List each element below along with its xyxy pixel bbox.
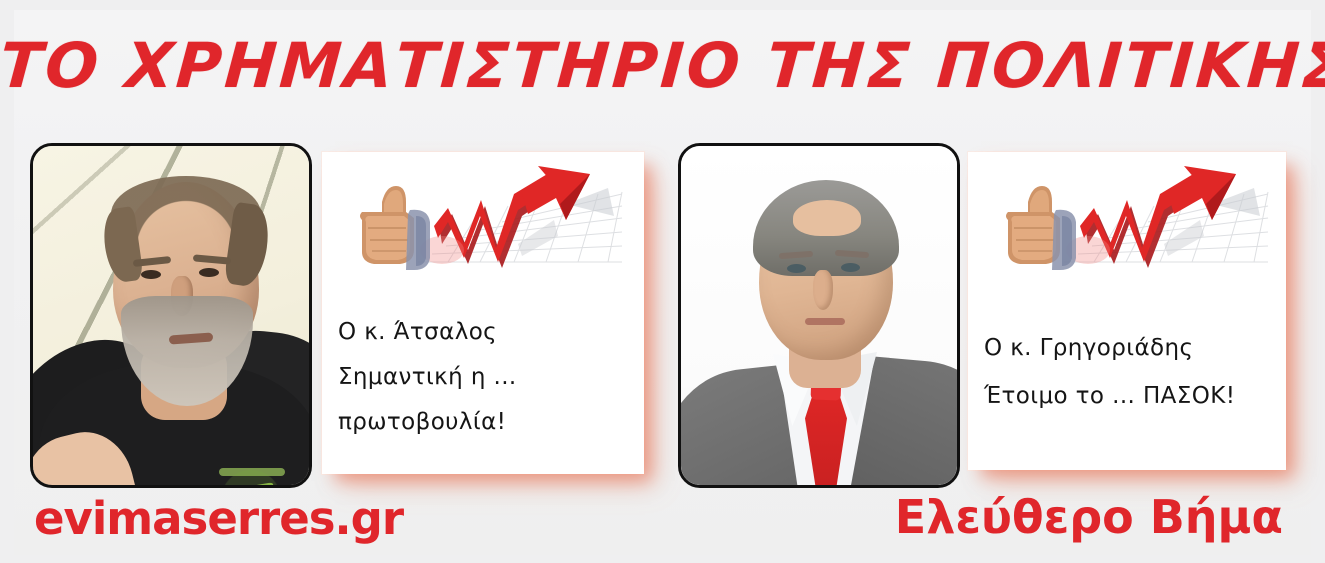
publication-wordmark: Ελεύθερο Βήμα [895, 490, 1283, 544]
banner-canvas: ΤΟ ΧΡΗΜΑΤΙΣΤΗΡΙΟ ΤΗΣ ΠΟΛΙΤΙΚΗΣ [0, 0, 1325, 563]
eye-left [141, 270, 161, 279]
rising-arrow-chart-icon [968, 158, 1290, 278]
eye-right [841, 263, 860, 272]
site-wordmark[interactable]: evimaserres.gr [34, 492, 403, 545]
rising-arrow-chart-icon [322, 158, 644, 278]
quote-card-atsalos: Ο κ. Άτσαλος Σημαντική η ... πρωτοβουλία… [322, 152, 644, 474]
page-title: ΤΟ ΧΡΗΜΑΤΙΣΤΗΡΙΟ ΤΗΣ ΠΟΛΙΤΙΚΗΣ [0, 33, 1325, 99]
eye-right [199, 268, 219, 277]
quote-line: Ο κ. Άτσαλος [338, 310, 632, 355]
nose [813, 270, 833, 310]
quote-line: Σημαντική η ... [338, 355, 632, 400]
quote-text-atsalos: Ο κ. Άτσαλος Σημαντική η ... πρωτοβουλία… [322, 310, 644, 445]
quote-line: Έτοιμο το ... ΠΑΣΟΚ! [984, 372, 1274, 420]
portrait-frame-grigoriadis [678, 143, 960, 488]
quote-line: πρωτοβουλία! [338, 400, 632, 445]
thumbs-up-icon [360, 186, 430, 270]
quote-card-grigoriadis: Ο κ. Γρηγοριάδης Έτοιμο το ... ΠΑΣΟΚ! [968, 152, 1286, 470]
portrait-image-grigoriadis [681, 146, 957, 485]
eye-left [787, 264, 806, 273]
portrait-frame-atsalos [30, 143, 312, 488]
quote-line: Ο κ. Γρηγοριάδης [984, 324, 1274, 372]
quote-text-grigoriadis: Ο κ. Γρηγοριάδης Έτοιμο το ... ΠΑΣΟΚ! [968, 324, 1286, 420]
forehead [793, 200, 861, 236]
thumbs-up-icon [1006, 186, 1076, 270]
mouth [805, 318, 845, 325]
portrait-image-atsalos [33, 146, 309, 485]
